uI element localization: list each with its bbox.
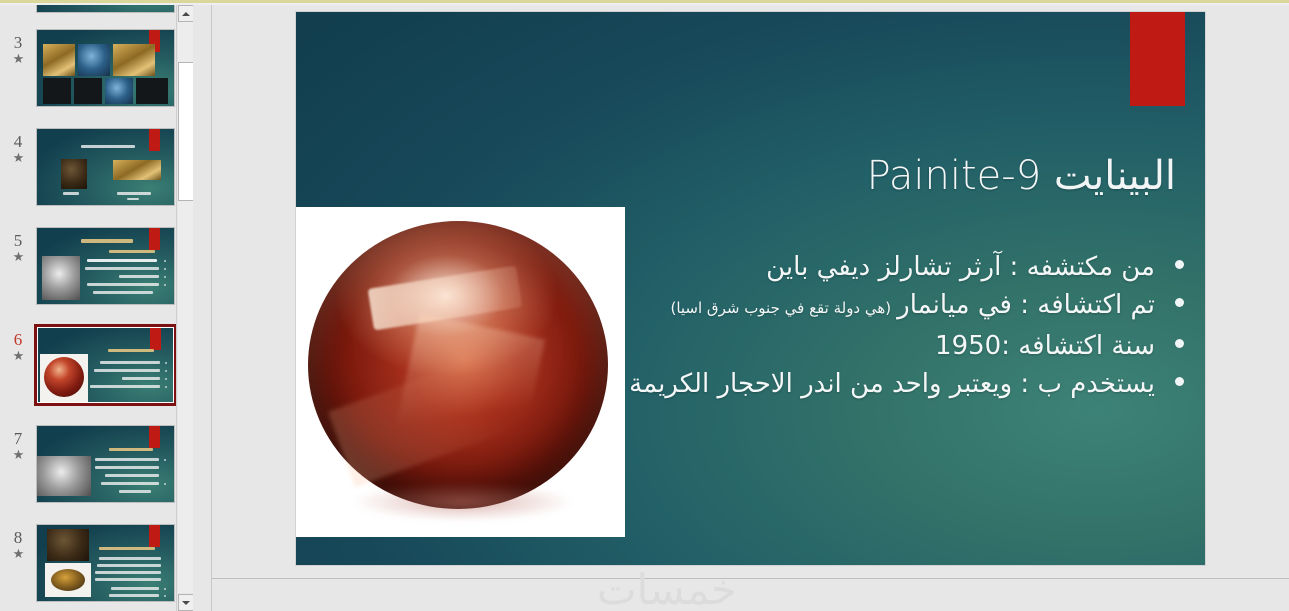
thumbnail-number-4: 4 (2, 132, 34, 151)
thumb-bullet-line (99, 557, 161, 560)
thumb-title-line (109, 448, 153, 451)
bullet-dot-icon (1175, 339, 1184, 348)
thumbnail-card[interactable] (36, 5, 175, 13)
thumb-caption-line (127, 198, 139, 200)
bullet-main-2: تم اكتشافه : في ميانمار (897, 290, 1155, 320)
thumbnail-animation-star-4: ★ (2, 151, 34, 165)
current-slide[interactable]: البينايت 9-Painite من مكتشفه : آرثر تشار… (296, 12, 1205, 565)
thumb-photo (37, 456, 91, 496)
bullet-dot-icon (1175, 377, 1184, 386)
thumbnail-preview-7 (37, 426, 174, 502)
thumb-red-tab-icon (149, 228, 160, 250)
thumb-caption-line (117, 192, 151, 195)
thumb-bullet-line (93, 291, 153, 294)
gemstone-shadow (354, 483, 572, 521)
thumb-bullet-dot (164, 260, 166, 262)
bullet-text-1: من مكتشفه : آرثر تشارلز ديفي باين (624, 250, 1155, 284)
khamsat-watermark: خمسات (542, 565, 792, 611)
thumb-photo (78, 44, 110, 76)
thumbnail-meta-3: 3 ★ (2, 33, 34, 66)
thumb-title-line (108, 349, 154, 352)
slide-title[interactable]: البينايت 9-Painite (726, 152, 1176, 200)
slide-red-accent-tab (1130, 12, 1185, 106)
thumbnail-number-6: 6 (2, 330, 34, 349)
thumb-bullet-line (97, 564, 161, 567)
thumbnail-card-4[interactable] (36, 128, 175, 206)
thumb-bullet-dot (164, 284, 166, 286)
thumb-photo (74, 78, 102, 104)
thumb-bullet-line (95, 578, 161, 581)
bullet-dot-icon (1175, 298, 1184, 307)
bullet-item-4[interactable]: يستخدم ب : ويعتبر واحد من اندر الاحجار ا… (624, 367, 1184, 401)
thumb-bullet-dot (165, 378, 167, 380)
bullet-item-3[interactable]: سنة اكتشافه :1950 (624, 329, 1184, 363)
thumb-bullet-line (95, 466, 159, 469)
thumb-title-line (99, 547, 155, 550)
slide-bullet-list[interactable]: من مكتشفه : آرثر تشارلز ديفي باين تم اكت… (624, 250, 1184, 405)
thumbnail-preview-4 (37, 129, 174, 205)
thumbnail-animation-star-8: ★ (2, 547, 34, 561)
thumbnail-meta-5: 5 ★ (2, 231, 34, 264)
thumb-red-tab-icon (149, 426, 160, 448)
thumb-red-tab-icon (149, 525, 160, 547)
thumb-bullet-line (111, 587, 159, 590)
thumbnail-animation-star-6: ★ (2, 349, 34, 363)
thumbnail-meta-8: 8 ★ (2, 528, 34, 561)
thumb-bullet-line (95, 458, 159, 461)
thumb-bullet-line (105, 474, 159, 477)
thumbnail-meta-7: 7 ★ (2, 429, 34, 462)
thumb-bullet-line (85, 267, 159, 270)
painite-gemstone-photo[interactable] (296, 207, 625, 537)
thumb-bullet-dot (164, 276, 166, 278)
thumb-photo (113, 44, 155, 76)
thumb-photo (45, 563, 91, 597)
thumb-subtitle-line (109, 250, 155, 253)
thumbnail-meta-4: 4 ★ (2, 132, 34, 165)
bullet-text-2: تم اكتشافه : في ميانمار(هي دولة تقع في ج… (624, 288, 1155, 325)
thumbnail-number-3: 3 (2, 33, 34, 52)
thumb-bullet-line (100, 361, 160, 364)
thumbnail-preview-5 (37, 228, 174, 304)
thumb-photo (42, 256, 80, 300)
thumb-bullet-line (109, 594, 159, 597)
scroll-down-button[interactable] (178, 594, 193, 611)
thumbnail-card-6[interactable] (34, 324, 177, 406)
thumb-bullet-line (94, 369, 160, 372)
scrollbar-thumb[interactable] (178, 62, 193, 201)
scroll-down-arrow-icon (182, 601, 190, 605)
thumb-bullet-line (119, 490, 151, 493)
thumbnail-pane-scrollbar[interactable] (176, 5, 193, 611)
thumb-bullet-line (87, 259, 157, 262)
thumb-bullet-dot (164, 595, 166, 597)
powerpoint-window: 3 ★ 4 ★ (0, 0, 1289, 611)
thumb-bullet-line (101, 482, 159, 485)
thumb-photo (136, 78, 168, 104)
thumb-bullet-dot (165, 362, 167, 364)
scroll-up-arrow-icon (182, 12, 190, 16)
thumbnail-preview-3 (37, 30, 174, 106)
thumb-title-line (81, 145, 135, 148)
thumb-bullet-dot (164, 588, 166, 590)
bullet-item-1[interactable]: من مكتشفه : آرثر تشارلز ديفي باين (624, 250, 1184, 284)
thumb-photo (40, 354, 88, 402)
thumb-bullet-line (122, 377, 160, 380)
thumb-bullet-dot (164, 483, 166, 485)
thumbnail-preview (37, 5, 174, 12)
thumbnail-animation-star-5: ★ (2, 250, 34, 264)
thumb-bullet-line (119, 275, 159, 278)
thumbnail-animation-star-3: ★ (2, 52, 34, 66)
thumb-bullet-line (87, 283, 159, 286)
thumb-photo (105, 78, 133, 104)
bullet-text-4: يستخدم ب : ويعتبر واحد من اندر الاحجار ا… (624, 367, 1155, 401)
thumbnail-number-7: 7 (2, 429, 34, 448)
thumb-red-tab-icon (149, 129, 160, 151)
thumb-photo (113, 160, 161, 180)
thumb-photo (43, 78, 71, 104)
thumb-red-tab-icon (150, 328, 161, 350)
thumbnail-card-5[interactable] (36, 227, 175, 305)
thumb-bullet-line (95, 571, 161, 574)
thumbnail-card-3[interactable] (36, 29, 175, 107)
bullet-note-2: (هي دولة تقع في جنوب شرق اسيا) (670, 299, 897, 317)
thumbnail-meta-6: 6 ★ (2, 330, 34, 363)
thumb-bullet-line (90, 385, 160, 388)
thumb-photo (61, 159, 87, 189)
thumbnail-preview-8 (37, 525, 174, 601)
thumb-bullet-dot (165, 370, 167, 372)
thumb-bullet-dot (164, 459, 166, 461)
slide-editing-canvas[interactable]: البينايت 9-Painite من مكتشفه : آرثر تشار… (212, 5, 1289, 611)
thumb-bullet-dot (165, 386, 167, 388)
thumb-photo (47, 529, 89, 561)
bullet-dot-icon (1175, 260, 1184, 269)
thumb-title-line (81, 239, 133, 243)
thumbnail-animation-star-7: ★ (2, 448, 34, 462)
thumbnail-card-8[interactable] (36, 524, 175, 602)
thumbnail-number-5: 5 (2, 231, 34, 250)
thumbnail-card-7[interactable] (36, 425, 175, 503)
thumbnail-number-8: 8 (2, 528, 34, 547)
thumb-bullet-dot (164, 268, 166, 270)
scroll-up-button[interactable] (178, 5, 193, 22)
thumb-photo (43, 44, 75, 76)
slide-thumbnail-pane[interactable]: 3 ★ 4 ★ (0, 5, 193, 611)
thumbnail-preview-6 (38, 328, 173, 402)
bullet-text-3: سنة اكتشافه :1950 (624, 329, 1155, 363)
thumb-caption-line (63, 192, 79, 195)
bullet-item-2[interactable]: تم اكتشافه : في ميانمار(هي دولة تقع في ج… (624, 288, 1184, 325)
